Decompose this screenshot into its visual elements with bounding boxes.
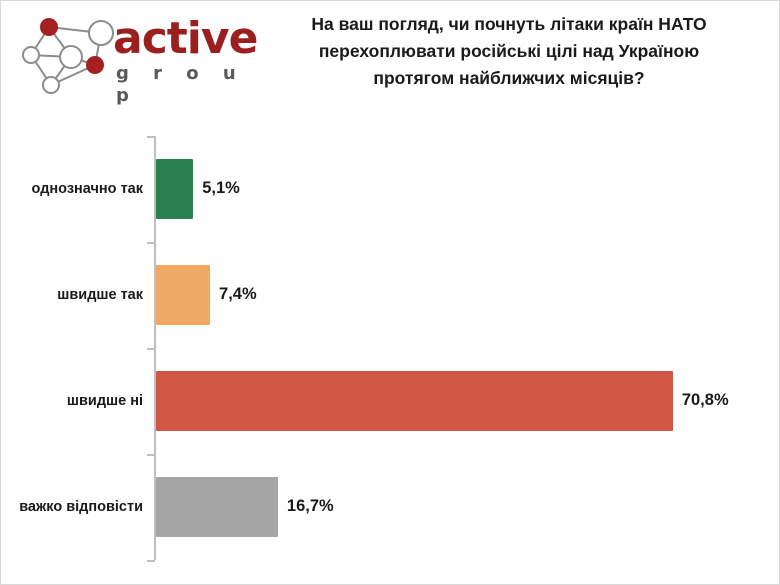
bar-row: важко відповісти16,7% bbox=[1, 454, 780, 560]
page-title-line-2: перехоплювати російські цілі над Україно… bbox=[259, 38, 759, 65]
brand-name-group: g r o u p bbox=[113, 63, 263, 107]
bar-value-label: 5,1% bbox=[202, 179, 240, 198]
bar-value-label: 7,4% bbox=[219, 285, 257, 304]
bar bbox=[156, 159, 193, 219]
bar-row: швидше ні70,8% bbox=[1, 348, 780, 454]
bar-chart: однозначно так5,1%швидше так7,4%швидше н… bbox=[1, 113, 780, 585]
chart-page: active g r o u p На ваш погляд, чи почну… bbox=[0, 0, 780, 585]
bar-value-label: 70,8% bbox=[682, 391, 729, 410]
page-title-line-3: протягом найближчих місяців? bbox=[259, 65, 759, 92]
bar bbox=[156, 371, 673, 431]
brand-logo: active g r o u p bbox=[13, 7, 253, 99]
bar-row: швидше так7,4% bbox=[1, 242, 780, 348]
page-title: На ваш погляд, чи почнуть літаки країн Н… bbox=[259, 11, 759, 92]
category-label: важко відповісти bbox=[1, 498, 143, 516]
brand-wordmark: active g r o u p bbox=[113, 15, 263, 107]
header: active g r o u p На ваш погляд, чи почну… bbox=[1, 1, 780, 113]
category-label: однозначно так bbox=[1, 180, 143, 198]
bar-value-label: 16,7% bbox=[287, 497, 334, 516]
bar bbox=[156, 477, 278, 537]
axis-tick bbox=[147, 560, 155, 562]
bar bbox=[156, 265, 210, 325]
page-title-line-1: На ваш погляд, чи почнуть літаки країн Н… bbox=[259, 11, 759, 38]
category-label: швидше ні bbox=[1, 392, 143, 410]
bar-row: однозначно так5,1% bbox=[1, 136, 780, 242]
category-label: швидше так bbox=[1, 286, 143, 304]
brand-name-active: active bbox=[113, 15, 263, 63]
network-graph-logo-icon bbox=[19, 11, 127, 97]
